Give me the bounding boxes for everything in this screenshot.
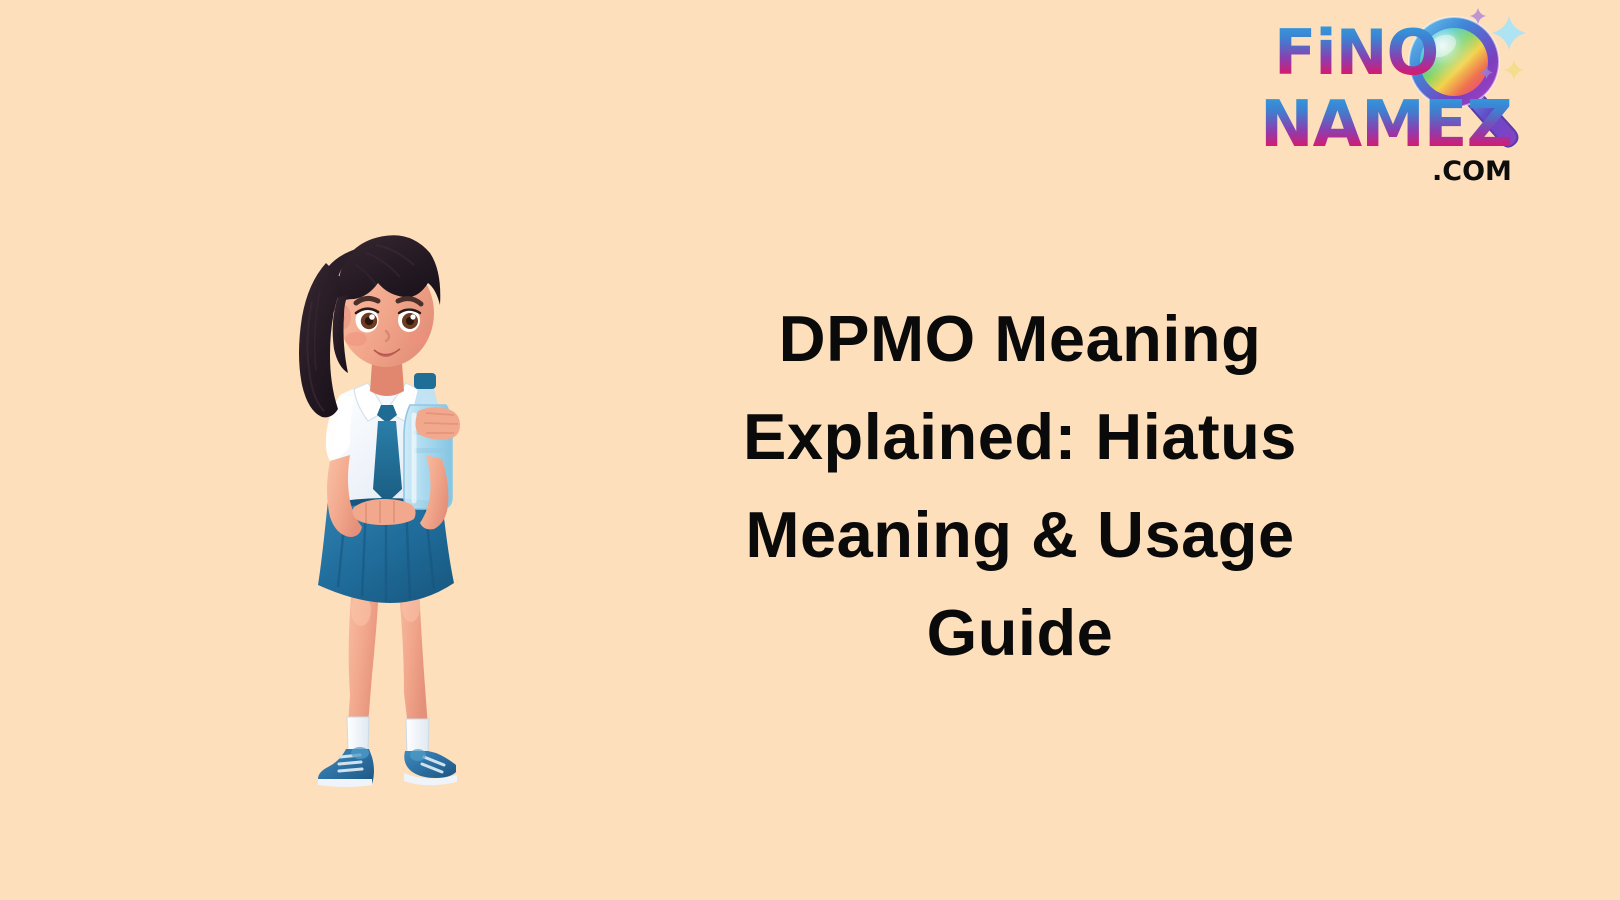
title-line-3: Meaning & Usage	[620, 486, 1420, 584]
banner-image: FiNO NAMEZ .COM	[0, 0, 1620, 900]
schoolgirl-illustration	[268, 205, 508, 790]
title-line-2: Explained: Hiatus	[620, 388, 1420, 486]
logo-word-namez: NAMEZ	[1260, 93, 1512, 157]
site-logo[interactable]: FiNO NAMEZ .COM	[1252, 8, 1602, 198]
page-title: DPMO Meaning Explained: Hiatus Meaning &…	[620, 290, 1420, 682]
title-line-4: Guide	[620, 584, 1420, 682]
logo-tld: .COM	[1432, 158, 1512, 185]
logo-word-fino: FiNO	[1274, 22, 1438, 84]
title-line-1: DPMO Meaning	[620, 290, 1420, 388]
